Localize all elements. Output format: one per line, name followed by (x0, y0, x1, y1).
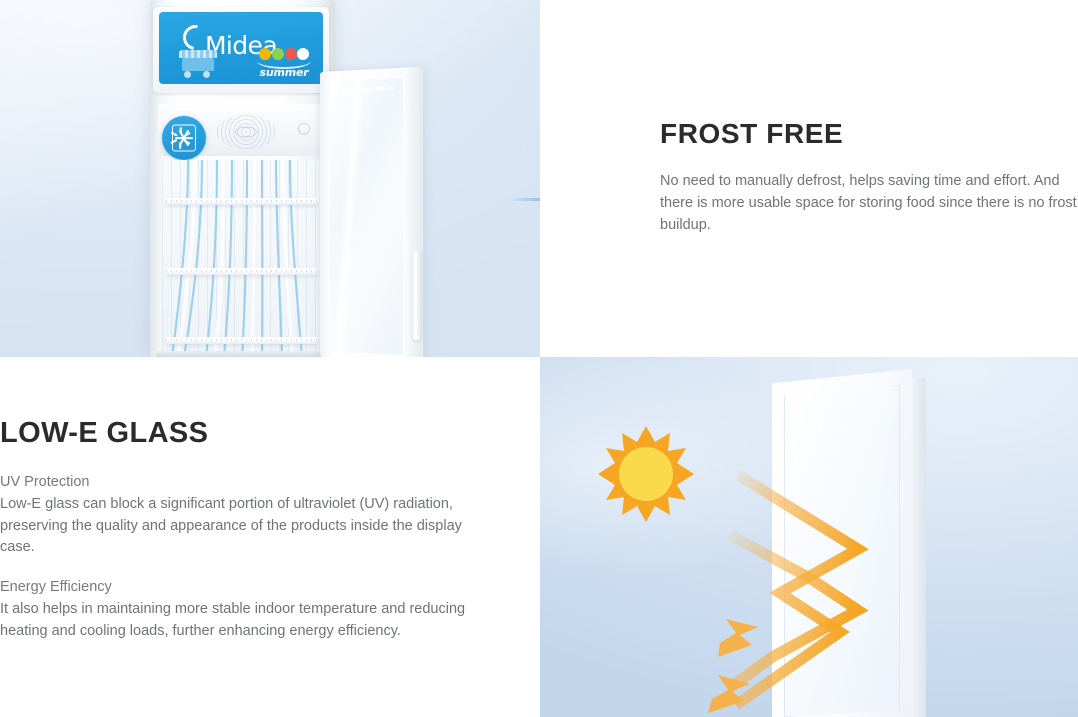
callout-leader-line (513, 198, 540, 201)
panel-frost-free-text: FROST FREE No need to manually defrost, … (540, 0, 1078, 357)
cart-wheel-icon (184, 71, 191, 78)
market-cart-icon (177, 48, 219, 78)
door-handle (413, 251, 421, 340)
door-frame (320, 67, 423, 357)
cooler-shelf (166, 268, 318, 275)
uv-protection-text: Low-E glass can block a significant port… (0, 494, 470, 559)
frost-free-badge (162, 116, 206, 160)
product-feature-page: Midea (0, 0, 1078, 717)
light-ray-diagram (540, 357, 1078, 717)
summer-logo-text: summer (253, 66, 315, 79)
summer-campaign-logo: summer (253, 46, 315, 80)
ray-arrowhead-icon (718, 619, 758, 657)
cooler-shelf (166, 337, 318, 344)
energy-efficiency-text: It also helps in maintaining more stable… (0, 599, 470, 643)
panel-frost-free-photo: Midea (0, 0, 540, 357)
cart-wheel-icon (203, 71, 210, 78)
cart-roof-icon (179, 50, 217, 58)
panel-low-e-glass-text: LOW-E GLASS UV Protection Low-E glass ca… (0, 357, 540, 717)
low-e-copy-block: LOW-E GLASS UV Protection Low-E glass ca… (0, 417, 470, 642)
copy-spacer (0, 559, 470, 577)
brand-lightbox: Midea (153, 7, 329, 93)
door-glass-pane (329, 77, 405, 357)
glass-glare (332, 80, 365, 353)
cooler-cabinet: Midea (150, 0, 335, 357)
interior-led-strip (164, 106, 320, 111)
uv-protection-label: UV Protection (0, 472, 470, 494)
panel-low-e-glass-illustration (540, 357, 1078, 717)
low-e-heading: LOW-E GLASS (0, 417, 470, 450)
sun-core-icon (619, 447, 673, 501)
sun-icon (596, 424, 696, 524)
airflow-diagram-icon (162, 160, 322, 357)
frost-free-body: No need to manually defrost, helps savin… (660, 170, 1078, 236)
brand-lightbox-panel: Midea (159, 12, 323, 84)
frost-free-heading: FROST FREE (660, 118, 1078, 150)
cooler-interior (162, 160, 322, 357)
fan-hub-icon (235, 127, 257, 138)
snowflake-icon (174, 128, 194, 148)
fan-grille-icon (216, 115, 276, 149)
thermostat-dial (298, 123, 310, 135)
cooler-shelf (166, 198, 318, 205)
cart-body-icon (182, 58, 214, 71)
display-cooler-product: Midea (150, 0, 422, 357)
frost-free-copy-block: FROST FREE No need to manually defrost, … (660, 118, 1078, 236)
energy-efficiency-label: Energy Efficiency (0, 577, 470, 599)
cooler-glass-door (320, 67, 423, 357)
